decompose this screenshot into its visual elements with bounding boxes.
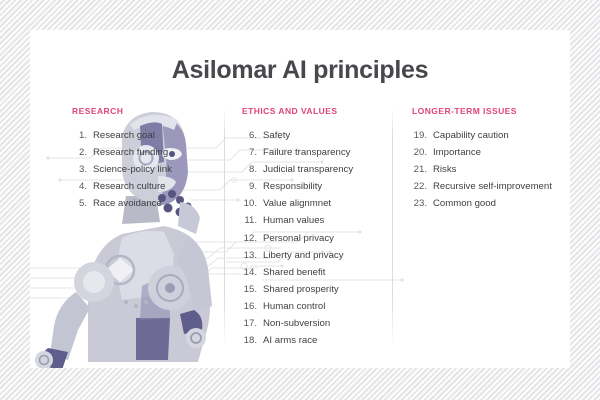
list-item-label: Responsibility: [263, 179, 407, 195]
list-item: 12.Personal privacy: [242, 231, 407, 247]
list-item: 2.Research funding: [72, 145, 222, 161]
list-item-label: Research culture: [93, 179, 222, 195]
list-item-number: 21.: [412, 162, 427, 178]
list-item-number: 2.: [72, 145, 87, 161]
list-item: 20.Importance: [412, 145, 562, 161]
list-item-number: 15.: [242, 282, 257, 298]
principles-list: 19.Capability caution 20.Importance 21.R…: [412, 128, 562, 212]
list-item: 8.Judicial transparency: [242, 162, 407, 178]
list-item-label: Research funding: [93, 145, 222, 161]
list-item-label: Risks: [433, 162, 562, 178]
list-item: 3.Science-policy link: [72, 162, 222, 178]
list-item: 21.Risks: [412, 162, 562, 178]
page-title: Asilomar AI principles: [30, 56, 570, 85]
list-item-number: 16.: [242, 299, 257, 315]
list-item-label: Common good: [433, 196, 562, 212]
list-item-number: 8.: [242, 162, 257, 178]
list-item-label: Capability caution: [433, 128, 562, 144]
list-item-number: 5.: [72, 196, 87, 212]
infographic-canvas: Asilomar AI principles RESEARCH 1.Resear…: [0, 0, 600, 400]
list-item: 19.Capability caution: [412, 128, 562, 144]
list-item-label: Human values: [263, 213, 407, 229]
list-item-number: 12.: [242, 231, 257, 247]
list-item: 16.Human control: [242, 299, 407, 315]
list-item: 14.Shared benefit: [242, 265, 407, 281]
list-item-label: Race avoidance: [93, 196, 222, 212]
list-item: 18.AI arms race: [242, 333, 407, 349]
list-item: 17.Non-subversion: [242, 316, 407, 332]
list-item: 4.Research culture: [72, 179, 222, 195]
list-item-number: 22.: [412, 179, 427, 195]
list-item: 15.Shared prosperity: [242, 282, 407, 298]
list-item-label: Human control: [263, 299, 407, 315]
list-item-label: Safety: [263, 128, 407, 144]
list-item: 10.Value alignmnet: [242, 196, 407, 212]
list-item-label: Recursive self-improvement: [433, 179, 562, 195]
column-heading: LONGER-TERM ISSUES: [412, 106, 562, 116]
list-item-label: Science-policy link: [93, 162, 222, 178]
list-item-label: Personal privacy: [263, 231, 407, 247]
list-item: 9.Responsibility: [242, 179, 407, 195]
column-heading: RESEARCH: [72, 106, 222, 116]
column-longer-term-issues: LONGER-TERM ISSUES 19.Capability caution…: [412, 106, 562, 213]
list-item-number: 10.: [242, 196, 257, 212]
list-item-label: Shared benefit: [263, 265, 407, 281]
list-item-label: Research goal: [93, 128, 222, 144]
list-item-number: 11.: [242, 213, 257, 229]
principles-list: 1.Research goal 2.Research funding 3.Sci…: [72, 128, 222, 212]
list-item-number: 4.: [72, 179, 87, 195]
list-item-number: 14.: [242, 265, 257, 281]
list-item-number: 1.: [72, 128, 87, 144]
column-heading: ETHICS AND VALUES: [242, 106, 407, 116]
content-card: Asilomar AI principles RESEARCH 1.Resear…: [30, 30, 570, 368]
list-item-number: 20.: [412, 145, 427, 161]
list-item: 6.Safety: [242, 128, 407, 144]
list-item: 1.Research goal: [72, 128, 222, 144]
principles-list: 6.Safety 7.Failure transparency 8.Judici…: [242, 128, 407, 349]
list-item-label: Shared prosperity: [263, 282, 407, 298]
list-item-number: 18.: [242, 333, 257, 349]
list-item-number: 19.: [412, 128, 427, 144]
list-item-label: Liberty and privacy: [263, 248, 407, 264]
list-item: 11.Human values: [242, 213, 407, 229]
column-ethics-and-values: ETHICS AND VALUES 6.Safety 7.Failure tra…: [242, 106, 407, 350]
list-item-number: 13.: [242, 248, 257, 264]
list-item-number: 3.: [72, 162, 87, 178]
list-item-label: Value alignmnet: [263, 196, 407, 212]
list-item-label: Importance: [433, 145, 562, 161]
principles-columns: RESEARCH 1.Research goal 2.Research fund…: [30, 106, 570, 356]
column-research: RESEARCH 1.Research goal 2.Research fund…: [72, 106, 222, 213]
list-item: 5.Race avoidance: [72, 196, 222, 212]
list-item: 23.Common good: [412, 196, 562, 212]
list-item-number: 23.: [412, 196, 427, 212]
list-item-number: 6.: [242, 128, 257, 144]
list-item: 7.Failure transparency: [242, 145, 407, 161]
list-item-label: Non-subversion: [263, 316, 407, 332]
list-item: 22.Recursive self-improvement: [412, 179, 562, 195]
list-item: 13.Liberty and privacy: [242, 248, 407, 264]
list-item-number: 9.: [242, 179, 257, 195]
list-item-label: Judicial transparency: [263, 162, 407, 178]
list-item-label: AI arms race: [263, 333, 407, 349]
list-item-number: 7.: [242, 145, 257, 161]
list-item-number: 17.: [242, 316, 257, 332]
list-item-label: Failure transparency: [263, 145, 407, 161]
